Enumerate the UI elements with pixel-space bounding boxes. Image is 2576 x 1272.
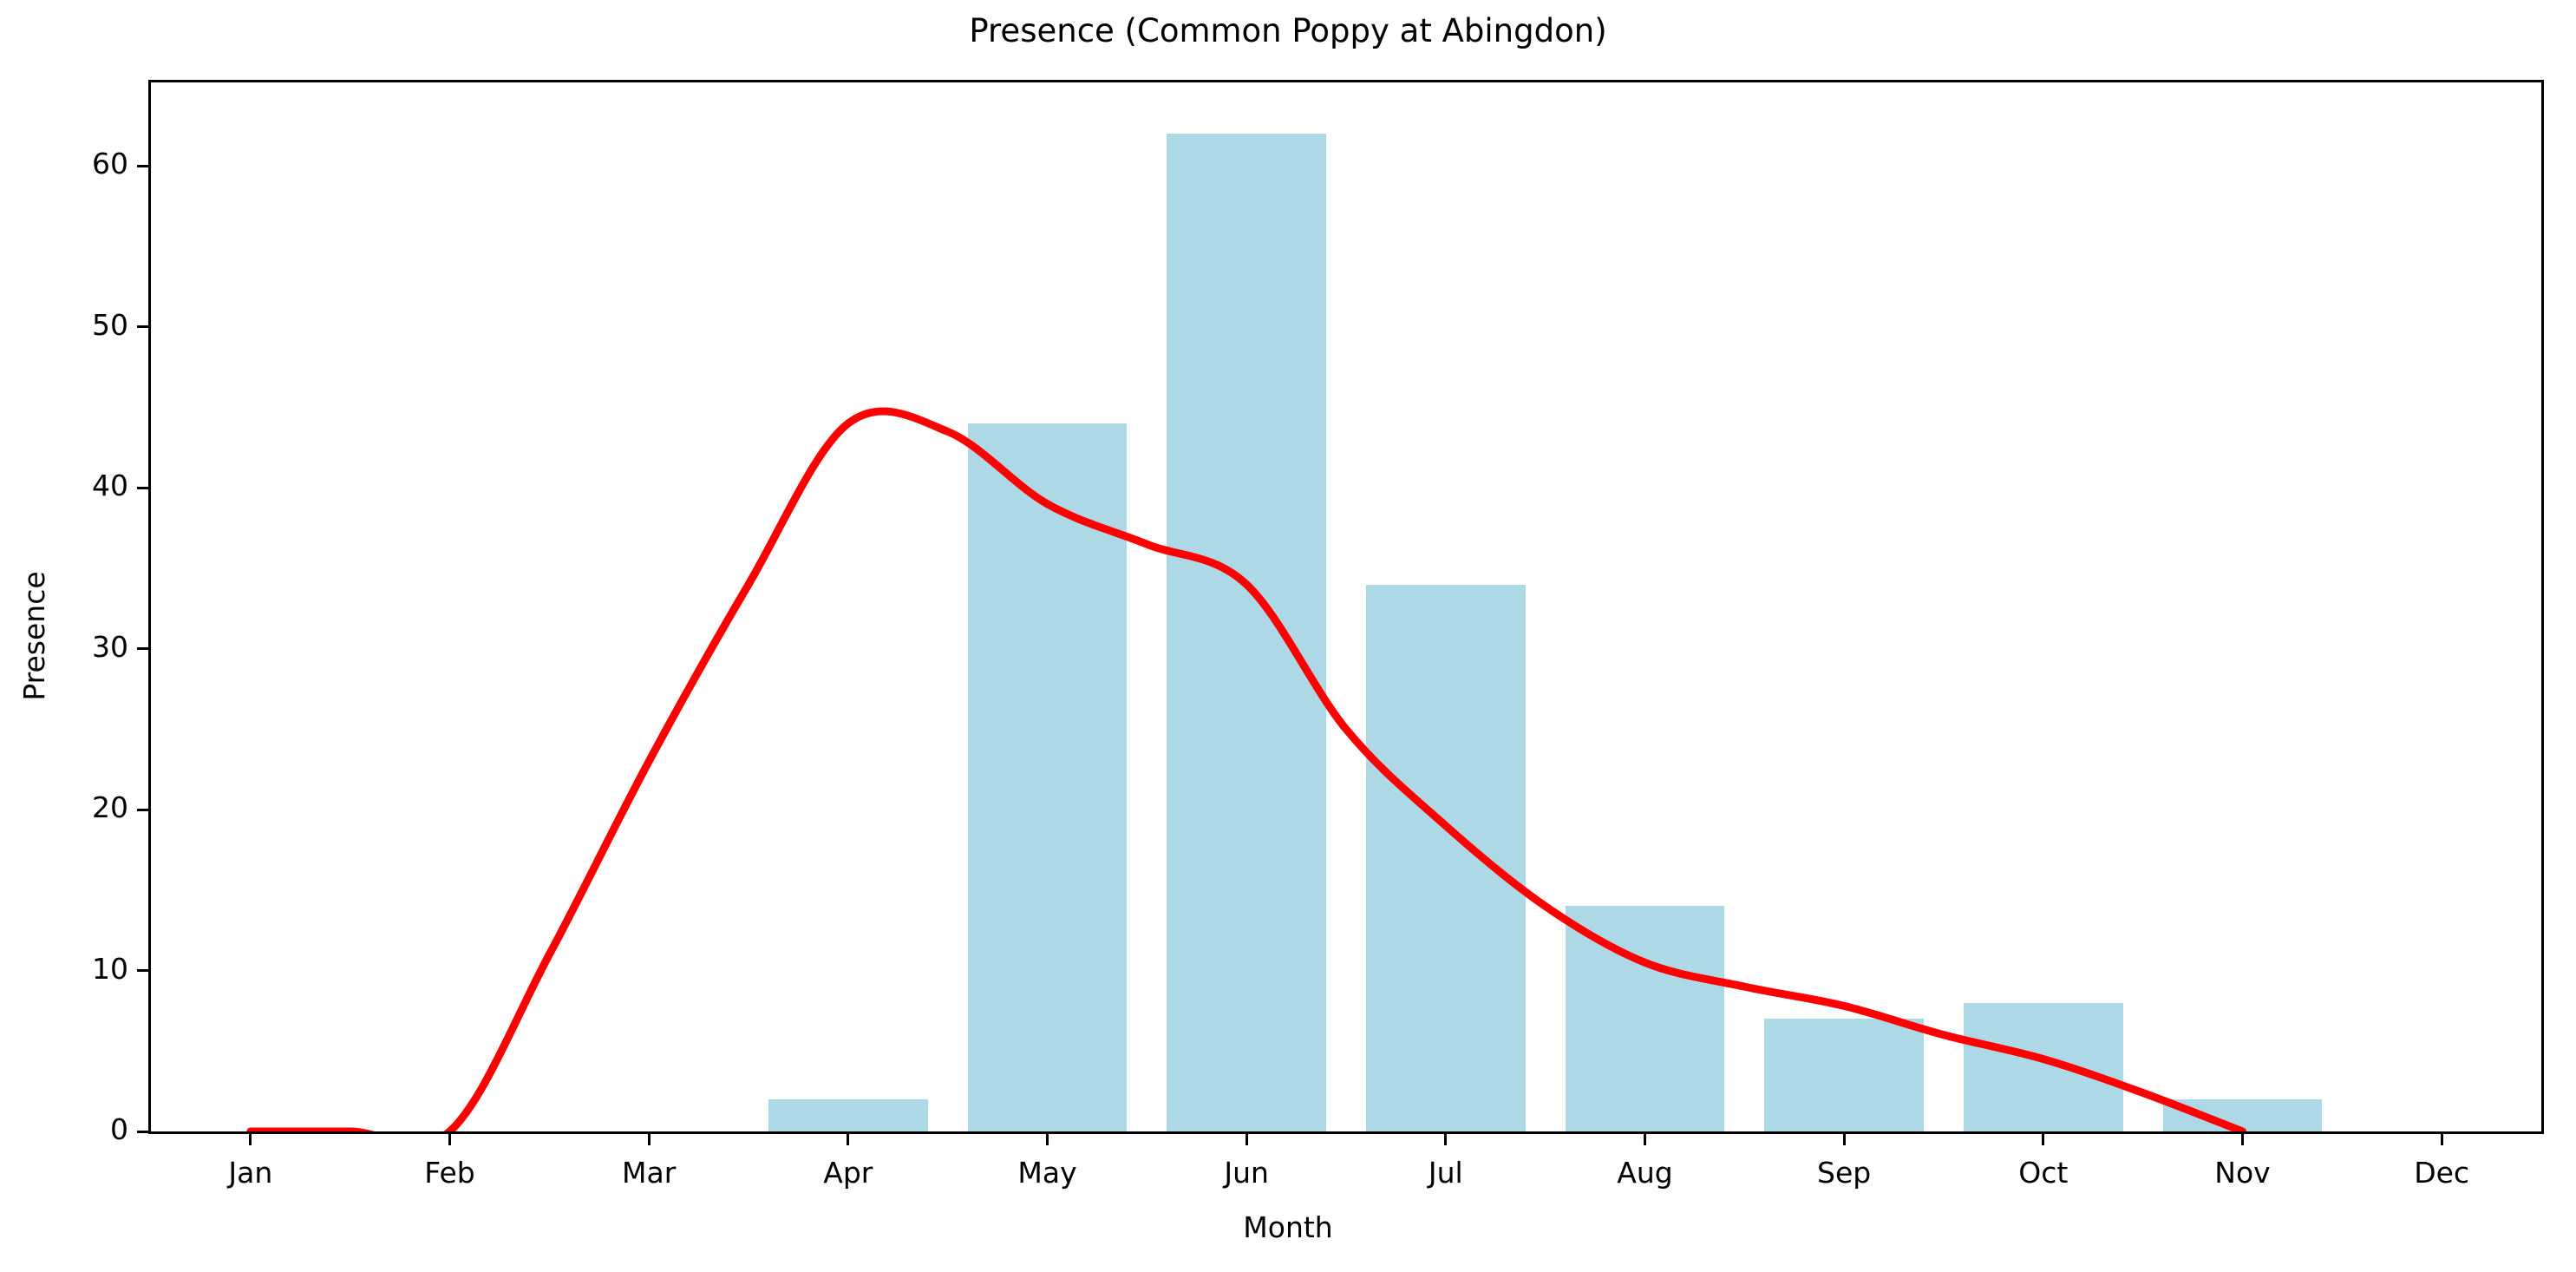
page-title: Presence (Common Poppy at Abingdon) (0, 12, 2576, 49)
plot-area (151, 82, 2541, 1131)
x-tick-mark (648, 1134, 651, 1145)
y-tick-mark (137, 809, 148, 811)
x-tick-mark (1246, 1134, 1248, 1145)
x-axis-title: Month (0, 1210, 2576, 1244)
y-axis-title-wrap: Presence (0, 0, 52, 1272)
y-tick-mark (137, 1131, 148, 1133)
plot-axes (148, 80, 2544, 1134)
x-tick-label-jul: Jul (1359, 1156, 1533, 1190)
y-axis-title: Presence (17, 0, 52, 1272)
x-tick-mark (249, 1134, 252, 1145)
y-tick-mark (137, 969, 148, 972)
y-tick-mark (137, 325, 148, 328)
x-tick-label-oct: Oct (1957, 1156, 2130, 1190)
x-tick-label-may: May (961, 1156, 1134, 1190)
x-tick-label-jun: Jun (1160, 1156, 1333, 1190)
x-tick-label-dec: Dec (2355, 1156, 2528, 1190)
y-tick-mark (137, 487, 148, 489)
x-tick-mark (1843, 1134, 1846, 1145)
x-tick-label-apr: Apr (762, 1156, 935, 1190)
x-tick-mark (2241, 1134, 2244, 1145)
x-tick-label-jan: Jan (164, 1156, 337, 1190)
x-tick-label-nov: Nov (2156, 1156, 2330, 1190)
chart-figure: Presence (Common Poppy at Abingdon) 0102… (0, 0, 2576, 1272)
x-tick-mark (448, 1134, 451, 1145)
x-tick-mark (2042, 1134, 2044, 1145)
x-tick-label-mar: Mar (562, 1156, 736, 1190)
x-tick-label-feb: Feb (363, 1156, 537, 1190)
x-tick-mark (1046, 1134, 1049, 1145)
trend-line-series (151, 82, 2541, 1131)
x-tick-mark (1644, 1134, 1646, 1145)
x-tick-label-sep: Sep (1757, 1156, 1931, 1190)
x-tick-label-aug: Aug (1559, 1156, 1732, 1190)
x-tick-mark (2441, 1134, 2443, 1145)
x-tick-mark (1444, 1134, 1447, 1145)
x-tick-mark (847, 1134, 849, 1145)
y-tick-mark (137, 647, 148, 650)
trend-line-path (251, 411, 2243, 1131)
y-tick-mark (137, 165, 148, 167)
